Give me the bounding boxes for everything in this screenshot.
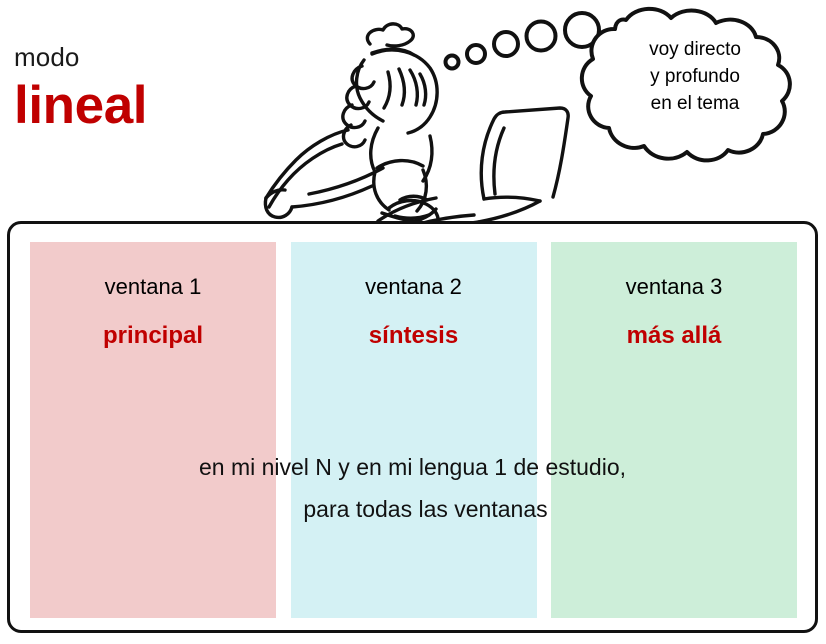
window-3-title: más allá [551,322,797,350]
thought-bubble-text: voy directo y profundo en el tema [600,36,790,117]
window-2-title: síntesis [291,322,537,350]
window-2-label: ventana 2 [291,274,537,300]
window-1-title: principal [30,322,276,350]
slide-canvas: modo lineal [0,0,826,644]
thought-bubble: voy directo y profundo en el tema [440,4,826,176]
thought-bubble-line-1: voy directo [600,36,790,63]
window-1-label: ventana 1 [30,274,276,300]
mode-name-heading: lineal [14,76,274,136]
thought-dot-4 [527,22,556,51]
thought-bubble-line-3: en el tema [600,90,790,117]
thought-bubble-line-2: y profundo [600,63,790,90]
windows-columns: ventana 1 principal ventana 2 síntesis v… [30,242,797,618]
thought-dot-2 [467,45,485,63]
window-column-3[interactable]: ventana 3 más allá [551,242,797,618]
window-3-label: ventana 3 [551,274,797,300]
mode-eyebrow-label: modo [14,42,274,72]
window-column-2[interactable]: ventana 2 síntesis [291,242,537,618]
title-block: modo lineal [14,42,274,136]
thought-dot-3 [494,32,518,56]
window-column-1[interactable]: ventana 1 principal [30,242,276,618]
thought-dot-1 [446,56,459,69]
windows-frame: ventana 1 principal ventana 2 síntesis v… [7,221,818,633]
